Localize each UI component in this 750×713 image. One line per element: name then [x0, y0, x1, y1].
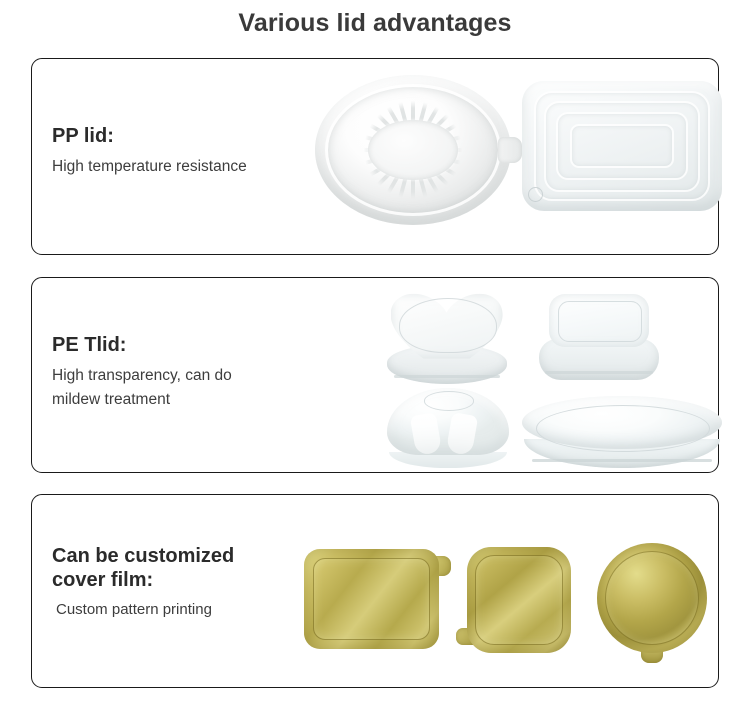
dome-pe-lid-top-ring: [424, 391, 475, 411]
round-pp-lid-image: [315, 75, 511, 225]
rectangular-pp-lid-ring-3: [556, 112, 688, 180]
oval-pe-lid-top-ring: [536, 405, 710, 452]
square-pe-lid-ear-right: [619, 296, 637, 304]
panel-cover-film: Can be customized cover film: Custom pat…: [31, 494, 719, 688]
rectangular-gold-foil-lid-image: [304, 549, 439, 649]
rectangular-pp-lid-ring-2: [544, 101, 700, 192]
panel-pe-tlid-heading: PE Tlid:: [52, 334, 232, 358]
oval-pe-lid-top: [522, 396, 722, 449]
dome-pe-lid-image: [387, 388, 509, 468]
round-gold-foil-lid-image: [597, 543, 707, 653]
round-pp-lid-ribs: [333, 90, 494, 210]
square-pe-lid-top: [549, 294, 650, 347]
rectangular-pp-lid-ring-1: [534, 91, 710, 200]
square-pe-lid-base: [539, 339, 659, 380]
square-pe-lid-ear-left: [561, 296, 579, 304]
rectangular-pp-lid-notch: [528, 187, 543, 202]
rectangular-gold-foil-lid-tab: [427, 556, 451, 576]
heart-pe-lid-cap: [391, 294, 504, 359]
dome-pe-lid-highlight-left: [410, 412, 443, 456]
dome-pe-lid-highlight-right: [446, 412, 479, 456]
heart-pe-lid-capline: [399, 298, 497, 353]
round-gold-foil-lid-inner-edge: [605, 551, 700, 646]
dome-pe-lid-foot: [389, 452, 506, 468]
panel-pe-tlid: PE Tlid: High transparency, can do milde…: [31, 277, 719, 473]
panel-pe-tlid-text-block: PE Tlid: High transparency, can do milde…: [52, 334, 232, 412]
rectangular-pp-lid-image: [522, 81, 722, 211]
panel-pe-tlid-subtext: High transparency, can do mildew treatme…: [52, 364, 232, 412]
round-gold-foil-lid-plate: [597, 543, 707, 653]
heart-pe-lid-skirt: [387, 345, 507, 384]
page-title: Various lid advantages: [0, 9, 750, 38]
panel-cover-film-subtext: Custom pattern printing: [52, 598, 234, 621]
panel-pp-lid-subtext: High temperature resistance: [52, 155, 247, 179]
rectangular-pp-lid-body: [522, 81, 722, 211]
heart-pe-lid-image: [387, 292, 507, 384]
square-pe-lid-image: [539, 294, 659, 380]
rectangular-pp-lid-ring-4: [570, 124, 674, 168]
panel-pp-lid: PP lid: High temperature resistance: [31, 58, 719, 255]
panel-cover-film-text-block: Can be customized cover film: Custom pat…: [52, 545, 234, 621]
round-pp-lid-tab: [498, 137, 522, 163]
oval-pe-lid-image: [522, 396, 722, 468]
round-pp-lid-rim: [325, 84, 501, 216]
square-gold-foil-lid-image: [467, 547, 571, 653]
round-gold-foil-lid-tab: [641, 643, 663, 663]
oval-pe-lid-skirt: [524, 439, 720, 468]
square-gold-foil-lid-plate: [467, 547, 571, 653]
square-pe-lid-topline: [558, 301, 642, 343]
rectangular-gold-foil-lid-inner-edge: [313, 558, 429, 640]
rectangular-gold-foil-lid-plate: [304, 549, 439, 649]
dome-pe-lid-dome: [387, 388, 509, 455]
panel-cover-film-heading: Can be customized cover film:: [52, 545, 234, 592]
panel-pp-lid-text-block: PP lid: High temperature resistance: [52, 125, 247, 179]
round-pp-lid-center: [368, 120, 458, 180]
square-gold-foil-lid-inner-edge: [475, 555, 562, 644]
panel-pp-lid-heading: PP lid:: [52, 125, 247, 149]
round-pp-lid-body: [315, 75, 511, 225]
square-gold-foil-lid-tab: [456, 628, 478, 645]
